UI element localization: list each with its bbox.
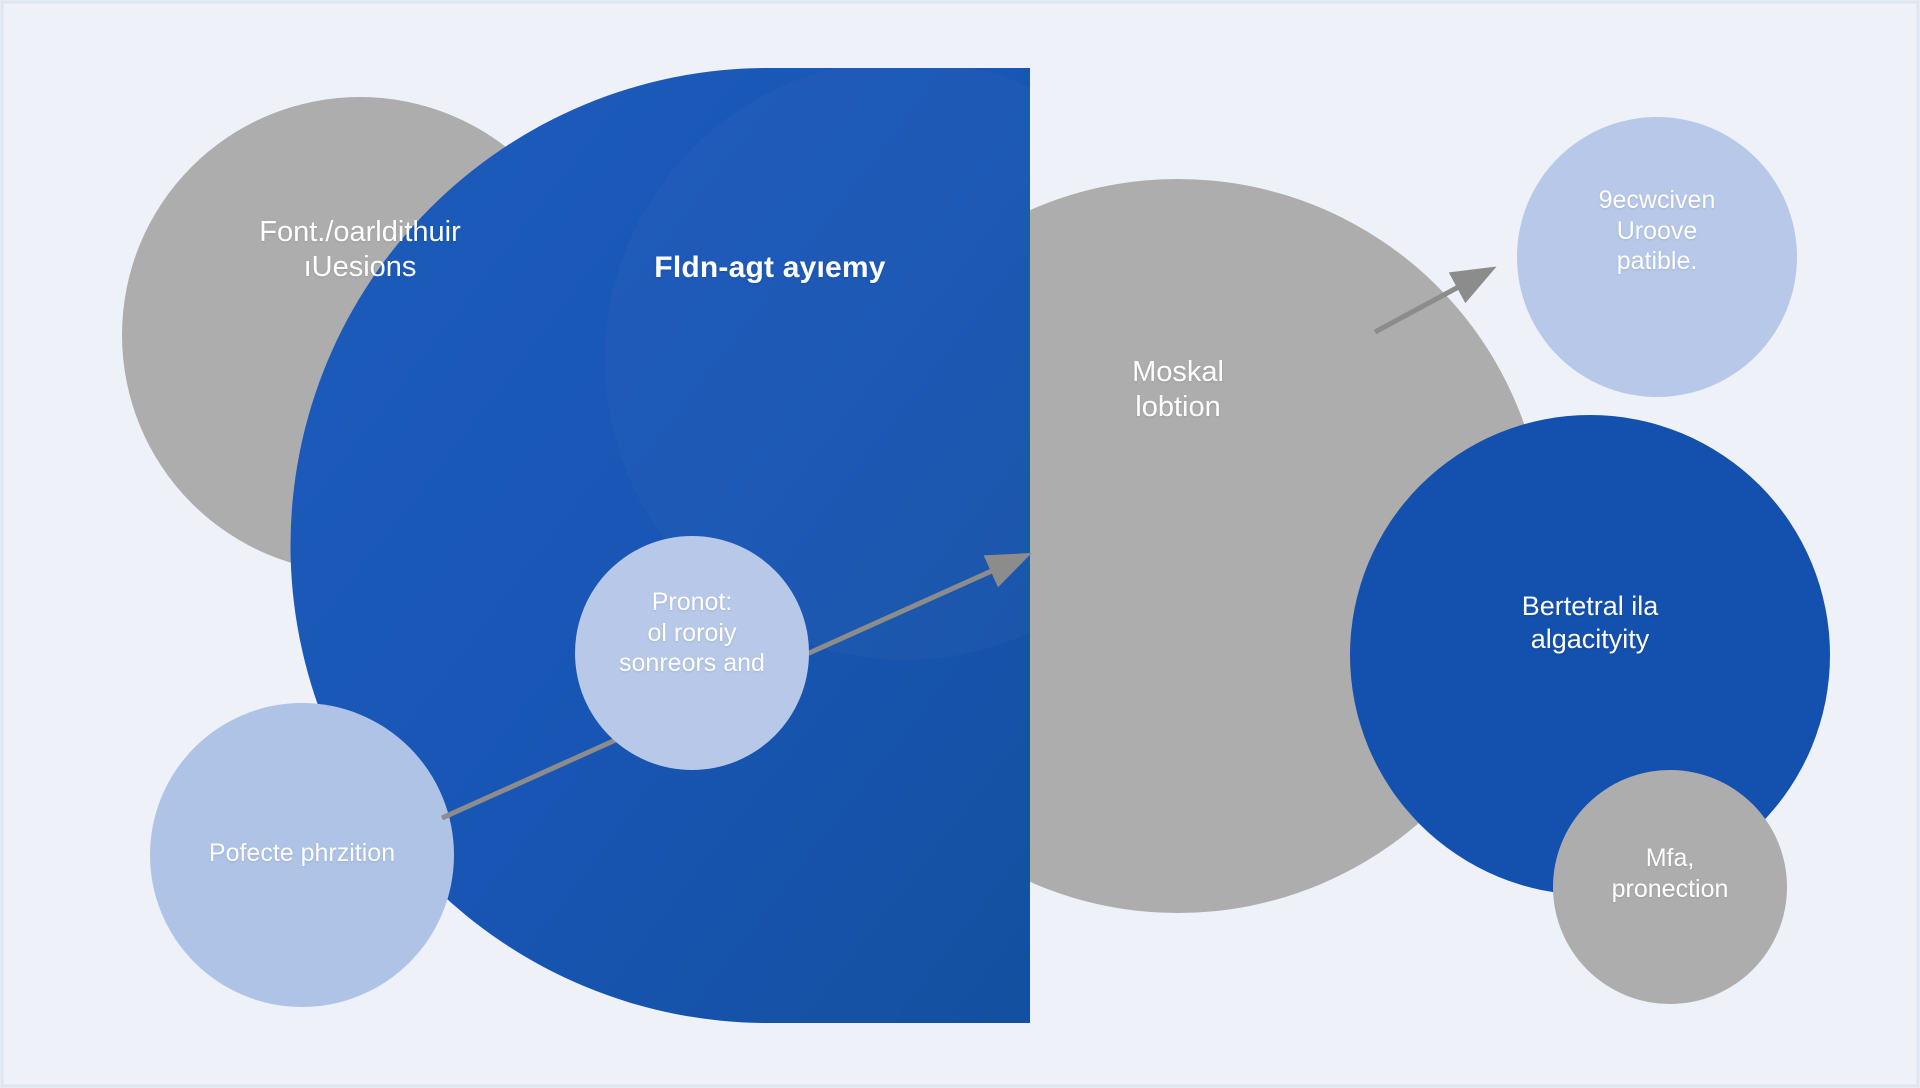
gray-circle-bottom-right-small-shape[interactable] — [1553, 770, 1787, 1004]
light-blue-circle-bottom-left-shape[interactable] — [150, 703, 454, 1007]
diagram-canvas: Font./oarldithuir ıUesions Fldn-agt ayıe… — [0, 0, 1920, 1088]
light-blue-circle-inner-capsule-shape[interactable] — [575, 536, 809, 770]
diagram-svg — [0, 0, 1920, 1088]
light-blue-circle-top-right-shape[interactable] — [1517, 117, 1797, 397]
